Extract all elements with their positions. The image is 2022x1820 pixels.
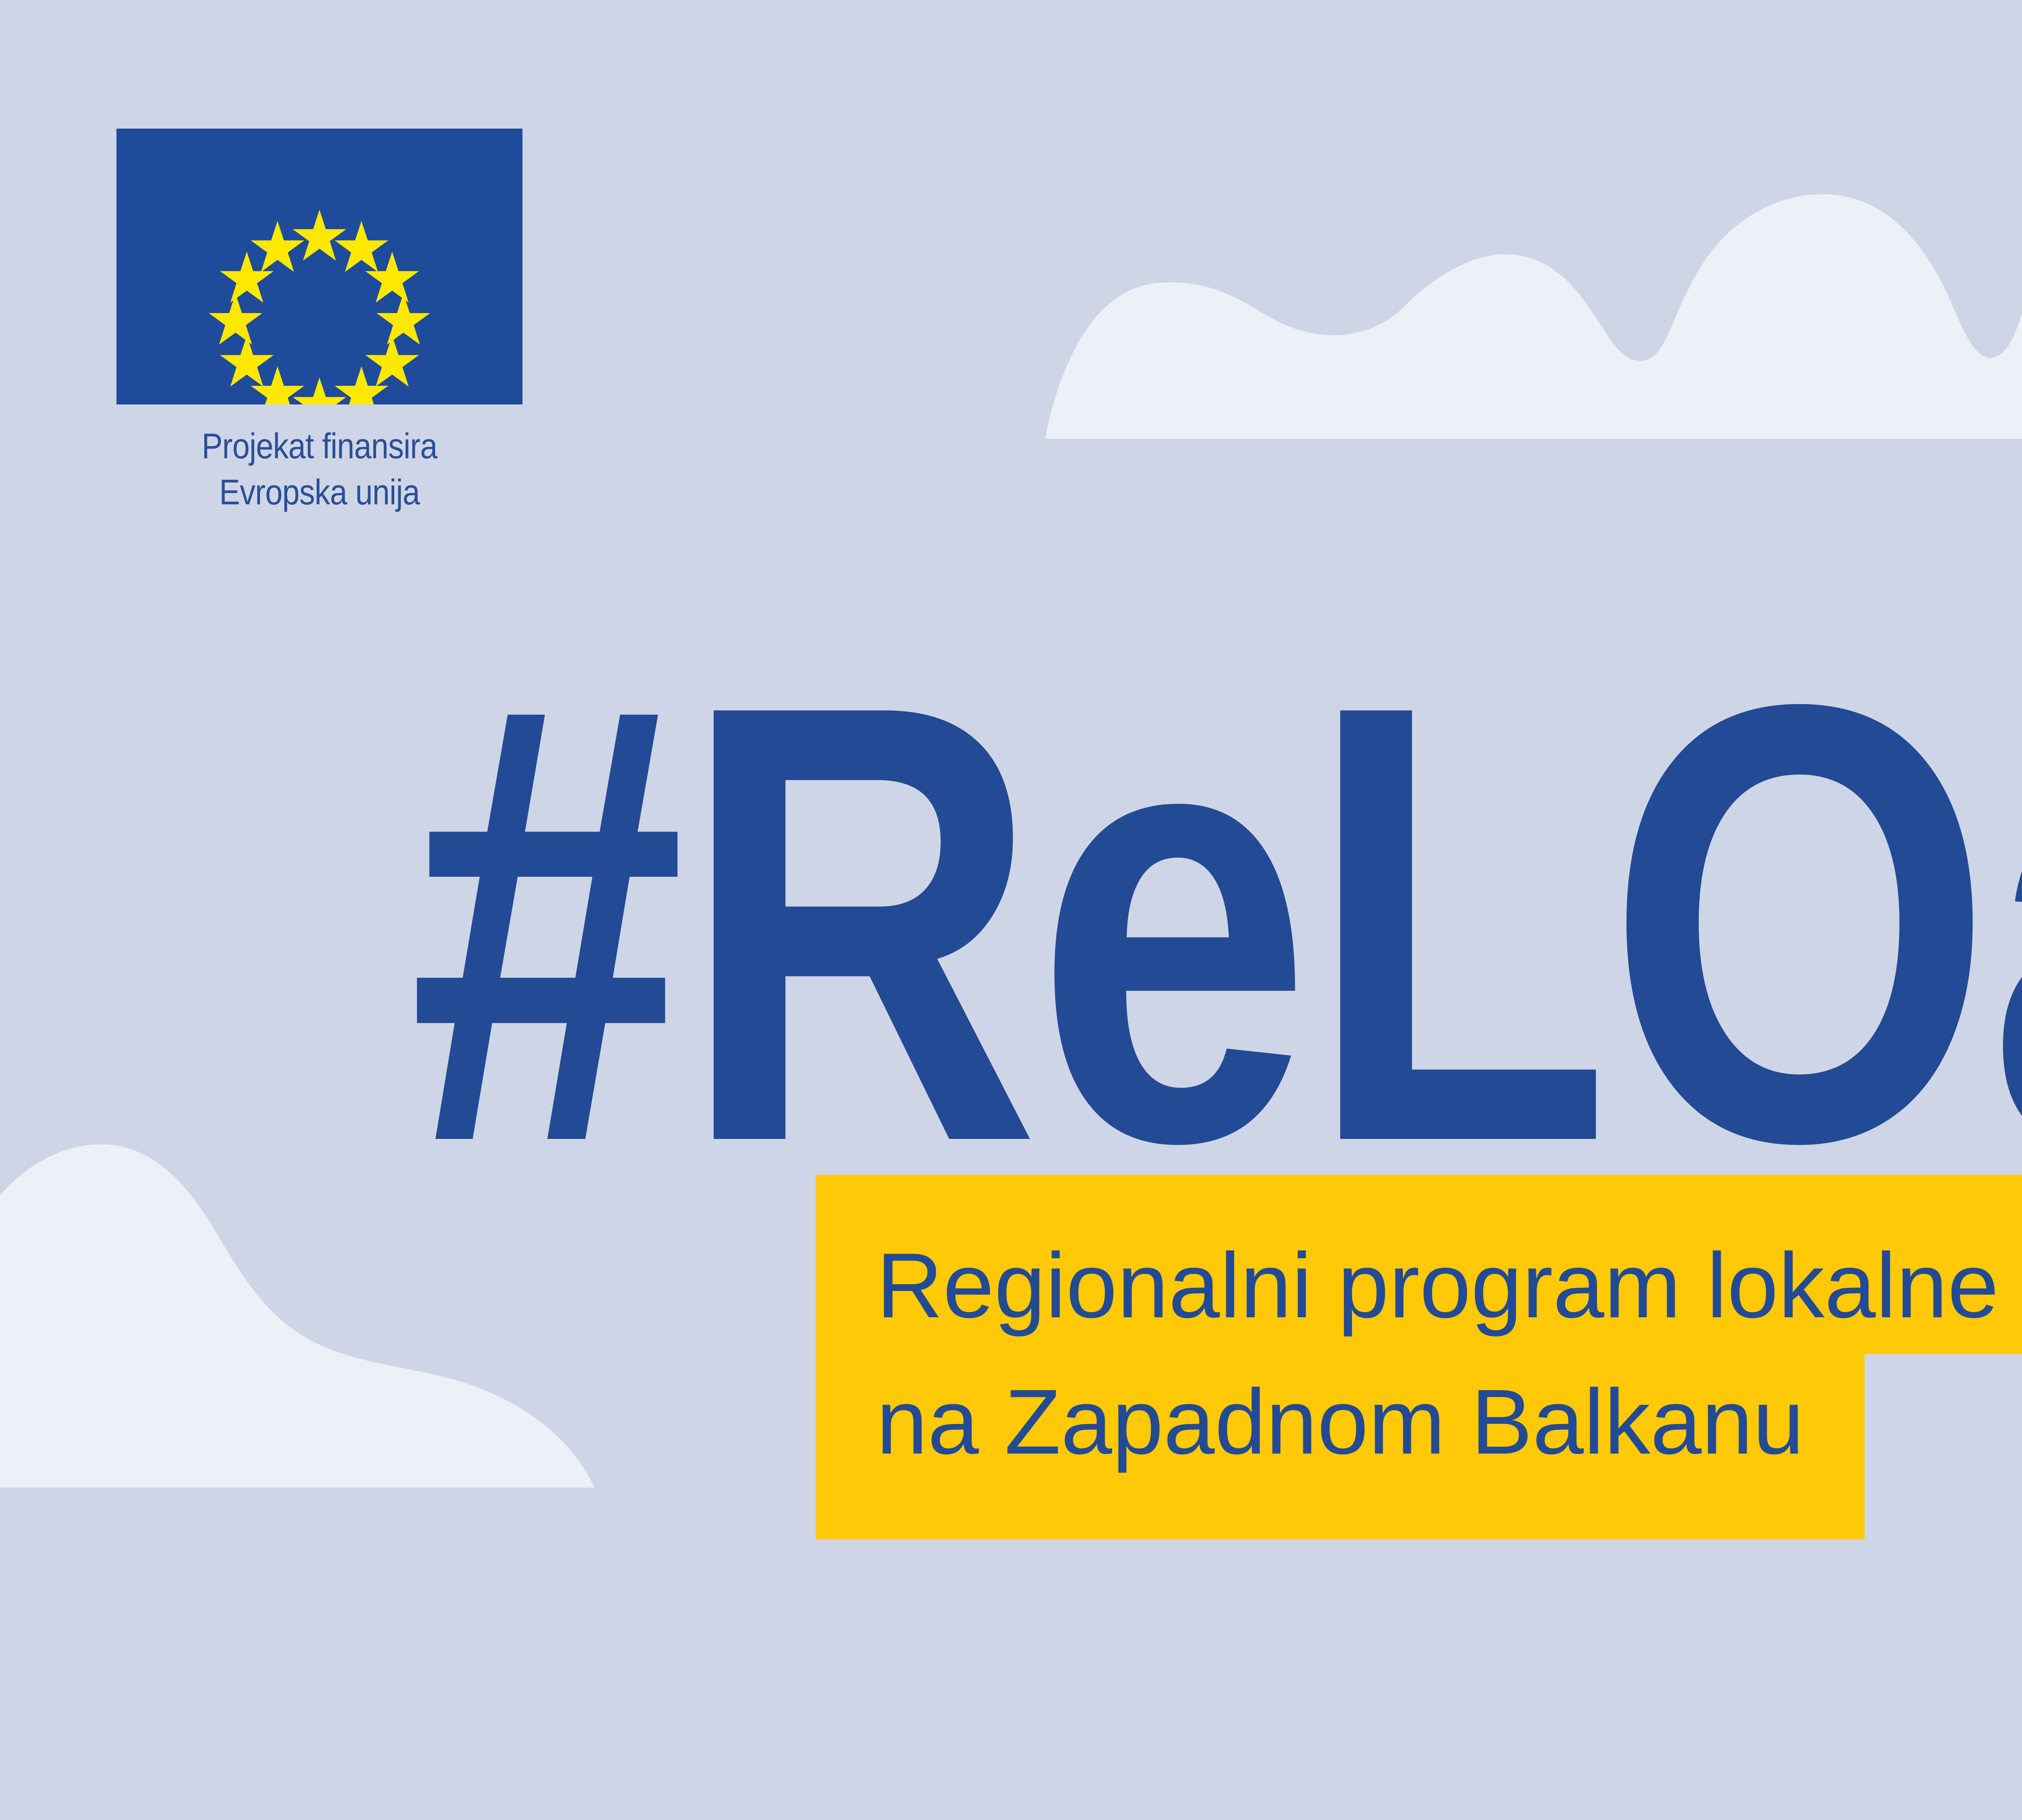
subtitle-line-1: Regionalni program lokalne demokratije xyxy=(816,1175,2022,1354)
eu-stars-icon xyxy=(116,129,522,404)
eu-flag-icon xyxy=(116,129,522,404)
program-subtitle-banner: Regionalni program lokalne demokratije n… xyxy=(816,1175,2022,1539)
eu-caption-line-2: Evropska unija xyxy=(141,469,498,515)
eu-caption-line-1: Projekat finansira xyxy=(141,423,498,469)
reload-program-banner: Projekat finansira Evropska unija xyxy=(0,0,2022,1820)
eu-funding-caption: Projekat finansira Evropska unija xyxy=(141,423,498,516)
subtitle-line-2: na Zapadnom Balkanu xyxy=(816,1354,1865,1539)
cloud-top-center-icon xyxy=(1045,194,2022,439)
eu-funding-block: Projekat finansira Evropska unija xyxy=(116,129,522,516)
program-headline: #ReLOaD xyxy=(408,612,2022,1235)
